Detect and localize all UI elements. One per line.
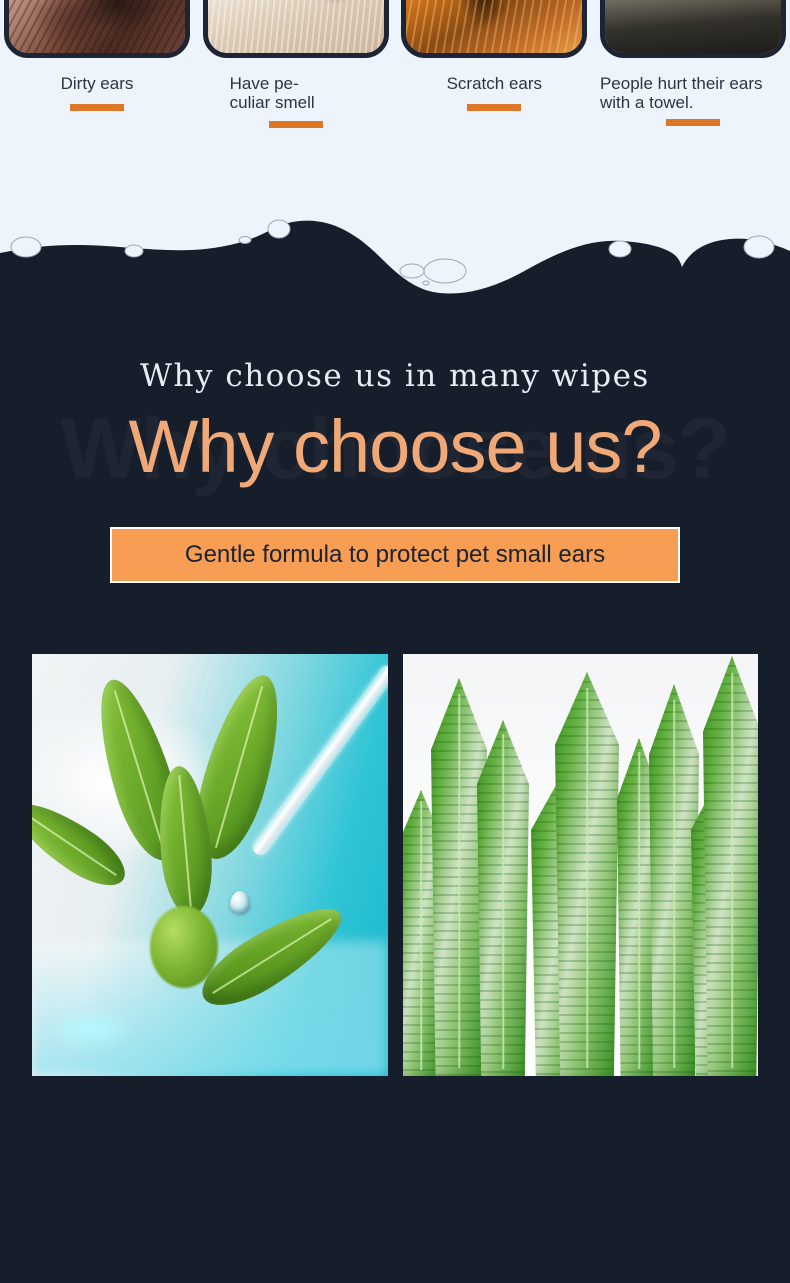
symptom-card[interactable]: Scratch ears (401, 0, 587, 140)
aloe-leaf (703, 656, 758, 1076)
symptom-card[interactable]: People hurt their ears with a towel. (600, 0, 786, 140)
tagline-text: Gentle formula to protect pet small ears (185, 541, 605, 569)
scratch-ears-photo (401, 0, 587, 58)
accent-underline (666, 119, 720, 126)
towel-hurt-ear-photo (600, 0, 786, 58)
symptoms-section: Dirty ears Have pe- culiar smell Scratch… (0, 0, 790, 240)
symptom-caption: Dirty ears (61, 74, 134, 93)
dirty-ear-photo (4, 0, 190, 58)
section-script-heading: Why choose us in many wipes (0, 358, 790, 394)
tagline-banner: Gentle formula to protect pet small ears (110, 527, 680, 583)
ingredient-gallery (32, 654, 758, 1076)
aloe-leaf (555, 672, 619, 1076)
green-sprout-pipette-photo (32, 654, 388, 1076)
symptom-caption: People hurt their ears with a towel. (600, 74, 786, 112)
water-droplet-icon (230, 891, 250, 914)
symptom-card-list: Dirty ears Have pe- culiar smell Scratch… (0, 0, 790, 140)
accent-underline (70, 104, 124, 111)
symptom-card[interactable]: Dirty ears (4, 0, 190, 140)
accent-underline (269, 121, 323, 128)
aloe-leaf (477, 720, 529, 1076)
symptom-caption: Scratch ears (447, 74, 542, 93)
light-glow (46, 1007, 136, 1051)
accent-underline (467, 104, 521, 111)
peculiar-smell-ear-photo (203, 0, 389, 58)
symptom-card[interactable]: Have pe- culiar smell (203, 0, 389, 140)
sprout-stem-base (150, 906, 218, 988)
symptom-caption: Have pe- culiar smell (230, 74, 380, 112)
aloe-leaf (649, 684, 699, 1076)
liquid-wave-divider-icon (0, 207, 790, 332)
aloe-vera-leaves-photo (403, 654, 758, 1076)
section-main-heading: Why choose us? (0, 408, 790, 486)
